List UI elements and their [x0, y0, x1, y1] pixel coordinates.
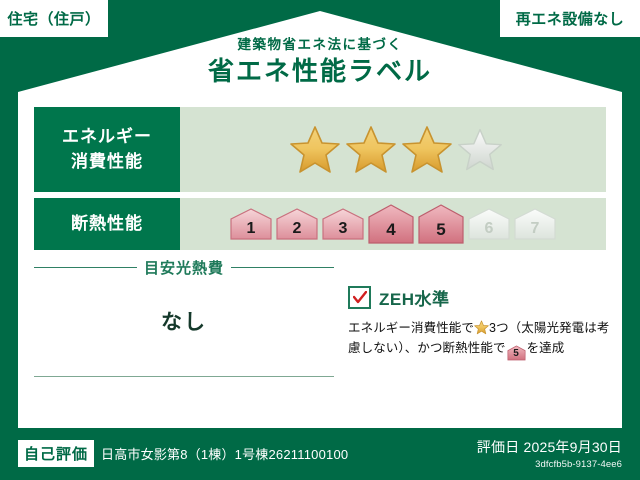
insulation-grade-6-value: 6: [485, 220, 494, 241]
energy-star-rating: [180, 107, 606, 192]
zeh-standard-section: ZEH水準 エネルギー消費性能で3つ（太陽光発電は考慮しない）、かつ断熱性能で5…: [348, 285, 610, 361]
utility-cost-heading-label: 目安光熱費: [144, 257, 224, 278]
insulation-grade-2: 2: [275, 207, 319, 241]
badge-renewable-equipment-label: 再エネ設備なし: [516, 8, 625, 29]
footer-evaluation-date: 評価日 2025年9月30日: [477, 437, 622, 457]
star-icon-filled: [345, 124, 397, 176]
energy-performance-label: エネルギー 消費性能: [34, 107, 180, 192]
zeh-desc-star-count: 3つ（太陽光発電: [489, 321, 584, 335]
zeh-standard-title: ZEH水準: [379, 285, 450, 310]
insulation-grade-5-value: 5: [436, 220, 445, 245]
insulation-grade-7: 7: [513, 207, 557, 241]
insulation-grade-badge-inline-value: 5: [507, 345, 526, 363]
zeh-standard-heading: ZEH水準: [348, 285, 610, 310]
divider-right: [231, 267, 334, 268]
insulation-grade-4: 4: [367, 203, 415, 245]
footer-evaluation-info: 自己評価 日高市女影第8（1棟）1号棟26211100100: [18, 440, 348, 467]
insulation-grade-4-value: 4: [386, 220, 395, 245]
title-subtitle: 建築物省エネ法に基づく: [0, 36, 640, 54]
title-main: 省エネ性能ラベル: [0, 55, 640, 88]
energy-performance-label-line2: 消費性能: [71, 150, 143, 175]
star-icon-filled: [289, 124, 341, 176]
insulation-grade-5: 5: [417, 203, 465, 245]
label-content-card: エネルギー 消費性能: [18, 95, 622, 417]
insulation-grade-badge-inline: 5: [507, 345, 526, 361]
insulation-grade-7-value: 7: [531, 220, 540, 241]
star-icon-empty: [457, 127, 503, 173]
energy-performance-row: エネルギー 消費性能: [34, 107, 606, 192]
insulation-grade-6: 6: [467, 207, 511, 241]
energy-performance-label-line1: エネルギー: [62, 125, 152, 150]
utility-cost-heading: 目安光熱費: [34, 257, 334, 278]
utility-cost-bottom-divider: [34, 376, 334, 377]
zeh-desc-part1: エネルギー消費性能で: [348, 321, 474, 335]
insulation-grade-1-value: 1: [247, 220, 256, 241]
insulation-performance-label-text: 断熱性能: [71, 212, 143, 237]
utility-cost-section: 目安光熱費 なし: [34, 257, 334, 336]
insulation-performance-label: 断熱性能: [34, 198, 180, 250]
insulation-grade-2-value: 2: [293, 220, 302, 241]
star-icon-inline: [474, 320, 489, 335]
insulation-grade-1: 1: [229, 207, 273, 241]
energy-performance-label: 住宅（住戸） 再エネ設備なし 建築物省エネ法に基づく 省エネ性能ラベル エネルギ…: [0, 0, 640, 480]
checkbox-checked-icon: [348, 286, 371, 309]
footer-identifier-hash: 3dfcfb5b-9137-4ee6: [477, 459, 622, 470]
footer-address: 日高市女影第8（1棟）1号棟26211100100: [101, 444, 348, 463]
star-icon-filled: [401, 124, 453, 176]
insulation-grade-3-value: 3: [339, 220, 348, 241]
zeh-desc-part3: を達成: [527, 341, 565, 355]
insulation-grade-scale: 1 2 3: [180, 198, 606, 250]
utility-cost-value: なし: [34, 306, 334, 336]
badge-housing-type-label: 住宅（住戸）: [7, 8, 100, 29]
insulation-grade-3: 3: [321, 207, 365, 241]
insulation-performance-row: 断熱性能 1 2: [34, 198, 606, 250]
divider-left: [34, 267, 137, 268]
self-evaluation-badge: 自己評価: [18, 440, 94, 467]
page-title: 建築物省エネ法に基づく 省エネ性能ラベル: [0, 36, 640, 87]
label-footer: 自己評価 日高市女影第8（1棟）1号棟26211100100 評価日 2025年…: [0, 427, 640, 480]
badge-renewable-equipment: 再エネ設備なし: [500, 0, 640, 37]
footer-date-info: 評価日 2025年9月30日 3dfcfb5b-9137-4ee6: [477, 437, 622, 470]
badge-housing-type: 住宅（住戸）: [0, 0, 108, 37]
zeh-standard-description: エネルギー消費性能で3つ（太陽光発電は考慮しない）、かつ断熱性能で5を達成: [348, 318, 610, 361]
